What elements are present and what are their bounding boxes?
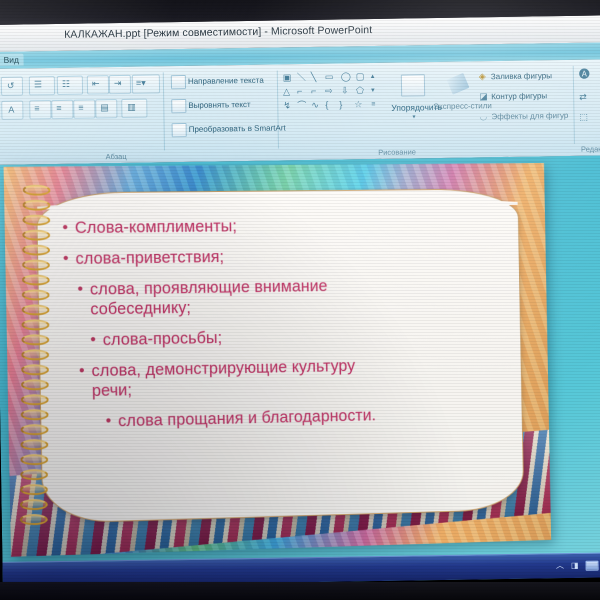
- shape-effects-icon[interactable]: ◡: [479, 111, 487, 121]
- paper-top-curve: [37, 176, 518, 210]
- bullet-dot-icon: •: [79, 361, 85, 380]
- battery-icon[interactable]: [585, 560, 598, 570]
- shape-line-icon[interactable]: ＼: [297, 72, 306, 83]
- editing-group-label: Редакт: [578, 144, 600, 153]
- bullet-text: слова, проявляющие внимание собеседнику;: [90, 276, 328, 319]
- text-shadow-button[interactable]: A: [1, 101, 23, 120]
- shape-arrow-icon[interactable]: ╲: [311, 72, 317, 83]
- numbered-list-button[interactable]: ☷: [57, 76, 83, 95]
- shapes-scroll-up-icon[interactable]: ▴: [371, 71, 375, 82]
- shape-left-brace-icon[interactable]: {: [325, 100, 328, 111]
- convert-smartart-label[interactable]: Преобразовать в SmartArt: [189, 123, 286, 134]
- list-item[interactable]: • слова, демонстрирующие культуру речи;: [79, 354, 490, 402]
- columns-button[interactable]: ▥: [121, 99, 147, 118]
- list-item[interactable]: • Слова-комплименты;: [62, 214, 487, 238]
- bullet-text: слова-просьбы;: [103, 328, 223, 350]
- tab-vid[interactable]: Вид: [0, 54, 24, 66]
- bullet-dot-icon: •: [106, 412, 112, 431]
- bullet-text: Слова-комплименты;: [75, 216, 237, 238]
- bullet-dot-icon: •: [77, 280, 83, 299]
- text-direction-label[interactable]: Направление текста: [188, 76, 264, 86]
- list-item[interactable]: • слова прощания и благодарности.: [106, 403, 491, 432]
- shape-freeform-icon[interactable]: ⌒: [297, 100, 306, 111]
- reset-rotation-button[interactable]: ↺: [1, 77, 23, 96]
- monitor-bezel-bottom: [0, 582, 600, 600]
- shape-curve-icon[interactable]: ↯: [283, 100, 291, 111]
- network-icon[interactable]: ◨: [571, 561, 579, 570]
- shape-effects-label[interactable]: Эффекты для фигур: [491, 111, 568, 121]
- arrange-dropdown-icon[interactable]: ▾: [412, 112, 415, 123]
- group-separator: [277, 71, 279, 149]
- align-text-icon[interactable]: [171, 99, 186, 113]
- shape-right-brace-icon[interactable]: }: [339, 100, 342, 111]
- window-title: КАЛКАЖАН.ppt [Режим совместимости] - Mic…: [64, 24, 372, 41]
- shape-textbox-icon[interactable]: ▣: [283, 72, 292, 83]
- shapes-more-icon[interactable]: ≡: [371, 99, 375, 110]
- slide-bullet-list[interactable]: • Слова-комплименты; • слова-приветствия…: [62, 214, 491, 444]
- ribbon-group-shape-format: ◈ Заливка фигуры ◪ Контур фигуры ◡ Эффек…: [477, 60, 588, 158]
- bullet-dot-icon: •: [90, 330, 96, 349]
- shape-connector-icon[interactable]: ⌐: [311, 86, 316, 97]
- increase-indent-button[interactable]: ⇥: [109, 75, 131, 94]
- powerpoint-window: КАЛКАЖАН.ppt [Режим совместимости] - Mic…: [0, 15, 600, 587]
- group-separator: [163, 72, 165, 150]
- arrange-icon[interactable]: [401, 74, 425, 96]
- notebook-spiral-binding: [20, 184, 49, 534]
- ribbon: ↺ A ☰ ☷ ⇤ ⇥ ≡▾: [0, 59, 600, 166]
- monitor-photo: КАЛКАЖАН.ppt [Режим совместимости] - Mic…: [0, 0, 600, 600]
- shape-rectangle-icon[interactable]: ▭: [325, 72, 334, 83]
- shape-rounded-rect-icon[interactable]: ▢: [356, 71, 365, 82]
- list-item[interactable]: • слова-приветствия;: [63, 244, 488, 269]
- bullet-text: слова, демонстрирующие культуру речи;: [91, 356, 355, 401]
- chevron-up-icon[interactable]: ︿: [556, 560, 564, 571]
- bullet-list-button[interactable]: ☰: [29, 76, 55, 95]
- slide[interactable]: • Слова-комплименты; • слова-приветствия…: [4, 163, 552, 557]
- bullet-dot-icon: •: [63, 249, 69, 268]
- bullet-text: слова-приветствия;: [75, 247, 224, 269]
- shape-fill-label[interactable]: Заливка фигуры: [491, 71, 552, 81]
- shape-outline-label[interactable]: Контур фигуры: [491, 91, 547, 101]
- shape-triangle-icon[interactable]: △: [283, 86, 290, 97]
- list-item[interactable]: • слова, проявляющие внимание собеседник…: [77, 274, 488, 320]
- shape-outline-icon[interactable]: ◪: [479, 91, 488, 101]
- find-icon[interactable]: 🅐: [579, 70, 590, 80]
- align-right-button[interactable]: ≡: [73, 99, 95, 118]
- shape-fill-icon[interactable]: ◈: [479, 71, 486, 81]
- replace-icon[interactable]: ⇄: [579, 92, 587, 102]
- align-text-label[interactable]: Выровнять текст: [188, 100, 250, 110]
- system-tray[interactable]: ︿ ◨: [556, 560, 599, 572]
- justify-button[interactable]: ▤: [95, 99, 117, 118]
- select-icon[interactable]: ⬚: [579, 112, 588, 122]
- quick-styles-icon[interactable]: [447, 73, 470, 95]
- shape-pentagon-icon[interactable]: ⬠: [356, 85, 364, 96]
- shape-oval-icon[interactable]: ◯: [341, 71, 351, 82]
- shape-arrow-right-icon[interactable]: ⇨: [325, 86, 333, 97]
- align-center-button[interactable]: ≡: [51, 100, 73, 119]
- ribbon-group-editing: 🅐 ⇄ ⬚ Редакт: [577, 59, 600, 155]
- line-spacing-button[interactable]: ≡▾: [132, 74, 160, 93]
- align-left-button[interactable]: ≡: [29, 100, 51, 119]
- shapes-scroll-down-icon[interactable]: ▾: [371, 85, 375, 96]
- shape-star-icon[interactable]: ☆: [354, 99, 362, 110]
- shape-scribble-icon[interactable]: ∿: [311, 100, 319, 111]
- list-item[interactable]: • слова-просьбы;: [90, 323, 489, 350]
- decrease-indent-button[interactable]: ⇤: [87, 75, 109, 94]
- convert-smartart-icon[interactable]: [172, 123, 187, 137]
- ribbon-group-paragraph: ↺ A ☰ ☷ ⇤ ⇥ ≡▾: [0, 65, 236, 165]
- shape-elbow-connector-icon[interactable]: ⌐: [297, 86, 302, 97]
- bullet-text: слова прощания и благодарности.: [118, 406, 376, 432]
- shape-arrow-down-icon[interactable]: ⇩: [341, 85, 349, 96]
- bullet-dot-icon: •: [62, 218, 68, 237]
- text-direction-icon[interactable]: [171, 75, 186, 89]
- slide-canvas[interactable]: • Слова-комплименты; • слова-приветствия…: [0, 155, 600, 587]
